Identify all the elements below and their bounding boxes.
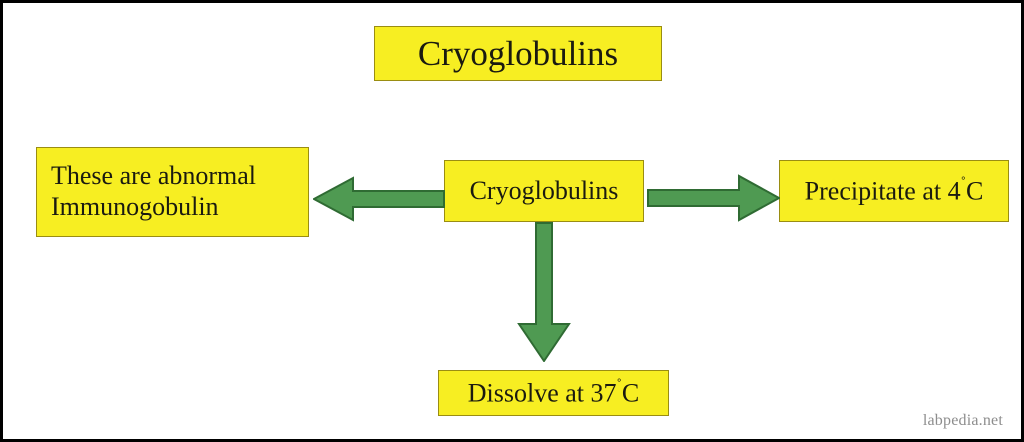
arrow-down-icon bbox=[515, 222, 573, 362]
node-bottom-prefix: Dissolve at 37 bbox=[468, 379, 617, 408]
node-left-label: These are abnormalImmunogobulin bbox=[51, 161, 308, 222]
node-center-label: Cryoglobulins bbox=[445, 176, 643, 207]
node-center-cryoglobulins: Cryoglobulins bbox=[444, 160, 644, 222]
node-right-precipitate: Precipitate at 4˚C bbox=[779, 160, 1009, 222]
node-left-line2: Immunogobulin bbox=[51, 192, 219, 221]
node-bottom-label: Dissolve at 37˚C bbox=[439, 376, 668, 409]
node-right-label: Precipitate at 4˚C bbox=[780, 174, 1008, 207]
node-title: Cryoglobulins bbox=[374, 26, 662, 81]
arrow-right-icon bbox=[647, 173, 780, 223]
node-bottom-dissolve: Dissolve at 37˚C bbox=[438, 370, 669, 416]
node-right-unit: C bbox=[966, 177, 983, 206]
node-left-abnormal-immunoglobulin: These are abnormalImmunogobulin bbox=[36, 147, 309, 237]
node-right-prefix: Precipitate at 4 bbox=[805, 177, 961, 206]
watermark-labpedia: labpedia.net bbox=[923, 412, 1003, 430]
diagram-canvas: Cryoglobulins These are abnormalImmunogo… bbox=[0, 0, 1024, 442]
node-title-label: Cryoglobulins bbox=[375, 33, 661, 74]
arrow-left-icon bbox=[313, 175, 445, 223]
node-bottom-unit: C bbox=[622, 379, 639, 408]
node-left-line1: These are abnormal bbox=[51, 161, 256, 190]
